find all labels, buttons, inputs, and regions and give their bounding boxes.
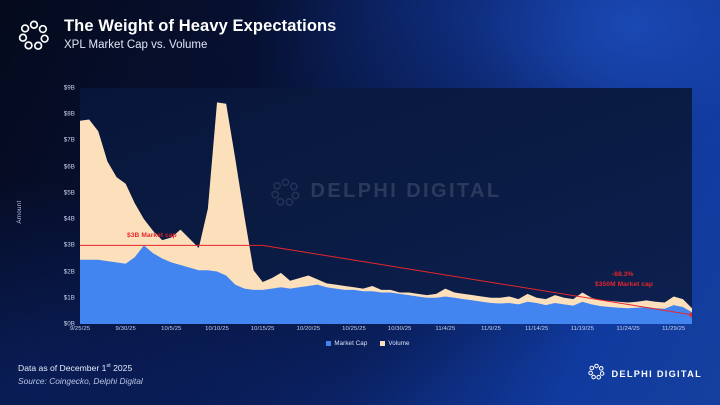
x-axis-tick: 11/24/25 <box>616 326 639 332</box>
delphi-ring-icon <box>588 363 605 385</box>
x-axis-tick: 10/15/25 <box>251 326 275 332</box>
y-axis-tick: $2B <box>64 268 75 275</box>
x-axis-tick: 10/5/25 <box>161 326 181 332</box>
header: The Weight of Heavy Expectations XPL Mar… <box>0 0 720 70</box>
delphi-ring-icon <box>18 19 50 51</box>
ref-line-label: $3B Market cap <box>127 232 177 239</box>
footer: Data as of December 1st 2025 Source: Coi… <box>18 362 143 387</box>
x-axis-tick: 11/9/25 <box>481 326 501 332</box>
legend-item-volume[interactable]: Volume <box>380 340 409 347</box>
source-text: Source: Coingecko, Delphi Digital <box>18 375 143 387</box>
x-axis-tick: 9/30/25 <box>115 326 135 332</box>
y-axis-tick: $1B <box>64 294 75 301</box>
y-axis-tick: $3B <box>64 242 75 249</box>
y-axis-labels: $0B$1B$2B$3B$4B$5B$6B$7B$8B$9B <box>44 88 78 324</box>
chart-svg <box>80 88 692 324</box>
chart-screenshot: The Weight of Heavy Expectations XPL Mar… <box>0 0 720 405</box>
x-axis-tick: 10/30/25 <box>388 326 412 332</box>
header-titles: The Weight of Heavy Expectations XPL Mar… <box>64 16 336 55</box>
data-as-of-text: Data as of December 1st 2025 <box>18 362 143 374</box>
x-axis-labels: 9/25/259/30/2510/5/2510/10/2510/15/2510/… <box>80 326 692 340</box>
y-axis-tick: $9B <box>64 85 75 92</box>
legend-swatch-market-cap <box>326 341 331 346</box>
page-title: The Weight of Heavy Expectations <box>64 16 336 37</box>
y-axis-tick: $4B <box>64 216 75 223</box>
y-axis-tick: $5B <box>64 189 75 196</box>
legend-label-volume: Volume <box>388 340 409 347</box>
x-axis-tick: 11/19/25 <box>571 326 594 332</box>
x-axis-tick: 11/4/25 <box>435 326 455 332</box>
legend-label-market-cap: Market Cap <box>334 340 367 347</box>
footer-logo-text: DELPHI DIGITAL <box>611 369 702 379</box>
x-axis-tick: 10/20/25 <box>296 326 320 332</box>
data-as-of-prefix: Data as of December 1 <box>18 363 106 373</box>
end-value-label: $350M Market cap <box>595 281 653 288</box>
y-axis-tick: $8B <box>64 111 75 118</box>
y-axis-tick: $6B <box>64 163 75 170</box>
footer-logo: DELPHI DIGITAL <box>588 363 702 385</box>
legend-swatch-volume <box>380 341 385 346</box>
x-axis-tick: 11/14/25 <box>525 326 548 332</box>
chart-container: Amount $0B$1B$2B$3B$4B$5B$6B$7B$8B$9B <box>44 88 692 336</box>
x-axis-tick: 9/25/25 <box>70 326 90 332</box>
chart-legend: Market Cap Volume <box>44 340 692 347</box>
data-as-of-suffix: 2025 <box>111 363 133 373</box>
x-axis-tick: 11/29/25 <box>662 326 685 332</box>
plot-area: DELPHI DIGITAL <box>80 88 692 324</box>
y-axis-tick: $7B <box>64 137 75 144</box>
decline-pct-label: -88.3% <box>612 271 634 278</box>
y-axis-title: Amount <box>16 200 23 223</box>
legend-item-market-cap[interactable]: Market Cap <box>326 340 367 347</box>
x-axis-tick: 10/10/25 <box>205 326 229 332</box>
x-axis-tick: 10/25/25 <box>342 326 366 332</box>
page-subtitle: XPL Market Cap vs. Volume <box>64 37 336 54</box>
